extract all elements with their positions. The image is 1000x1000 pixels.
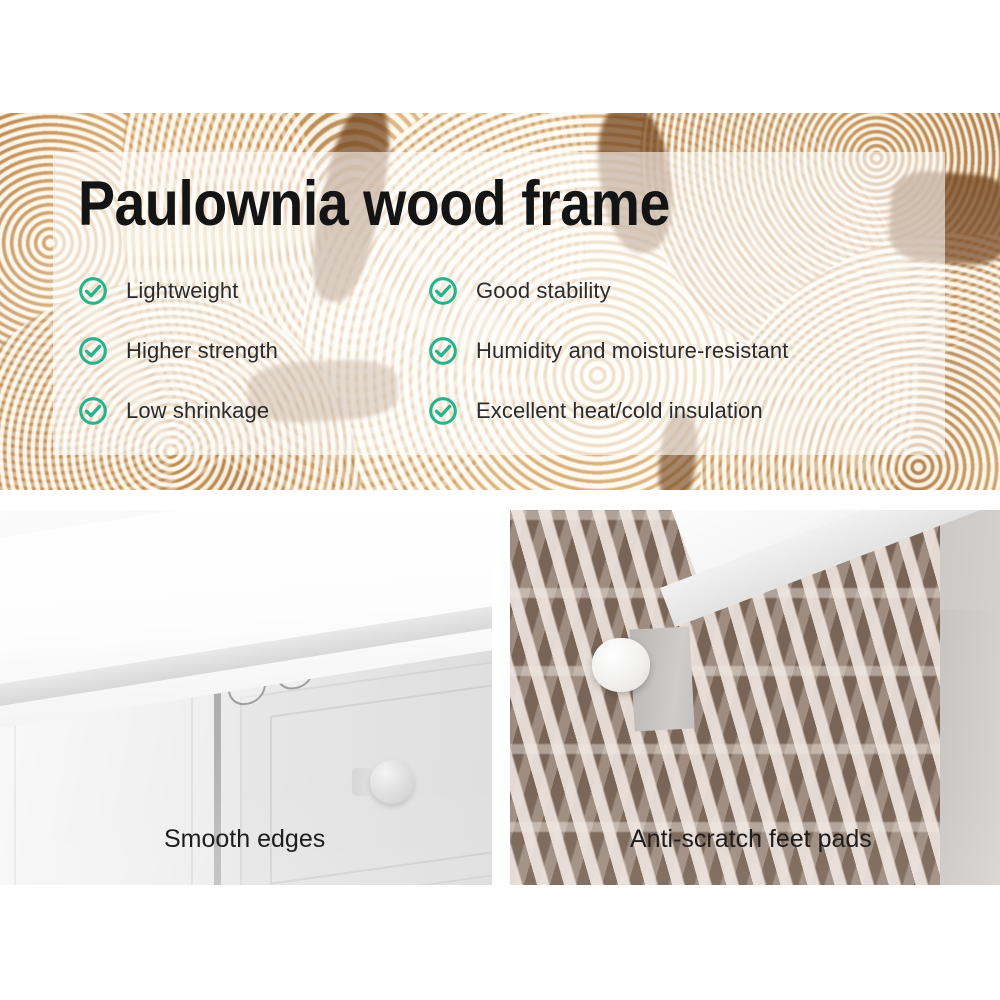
feature-item: Excellent heat/cold insulation (428, 381, 948, 441)
feature-column-left: Lightweight Higher strength (78, 261, 418, 441)
feature-item: Good stability (428, 261, 948, 321)
check-circle-icon (428, 396, 458, 426)
check-circle-icon (428, 276, 458, 306)
feature-label: Excellent heat/cold insulation (476, 398, 763, 424)
feature-item: Humidity and moisture-resistant (428, 321, 948, 381)
feature-label: Humidity and moisture-resistant (476, 338, 788, 364)
feature-list: Lightweight Higher strength (78, 261, 948, 441)
wood-banner: Paulownia wood frame Lightweight (0, 113, 1000, 490)
anti-scratch-foot-pad (592, 638, 650, 692)
drawer-knob (370, 760, 414, 804)
product-feature-page: Paulownia wood frame Lightweight (0, 0, 1000, 1000)
feature-item: Low shrinkage (78, 381, 418, 441)
check-circle-icon (78, 396, 108, 426)
check-circle-icon (78, 276, 108, 306)
photo-caption: Smooth edges (164, 825, 325, 854)
feature-column-right: Good stability Humidity and moisture-res… (428, 261, 948, 441)
photo-caption: Anti-scratch feet pads (630, 825, 872, 854)
feature-item: Higher strength (78, 321, 418, 381)
check-circle-icon (428, 336, 458, 366)
feature-item: Lightweight (78, 261, 418, 321)
photo-anti-scratch-feet-pads: Anti-scratch feet pads (510, 510, 1000, 885)
feature-label: Lightweight (126, 278, 238, 304)
wall-surface-secondary (940, 610, 1000, 885)
banner-title: Paulownia wood frame (78, 173, 800, 236)
photo-smooth-edges: Smooth edges (0, 510, 492, 885)
photo-row: Smooth edges Anti-scratch feet pads (0, 510, 1000, 885)
feature-label: Low shrinkage (126, 398, 269, 424)
feature-label: Higher strength (126, 338, 278, 364)
feature-label: Good stability (476, 278, 611, 304)
check-circle-icon (78, 336, 108, 366)
